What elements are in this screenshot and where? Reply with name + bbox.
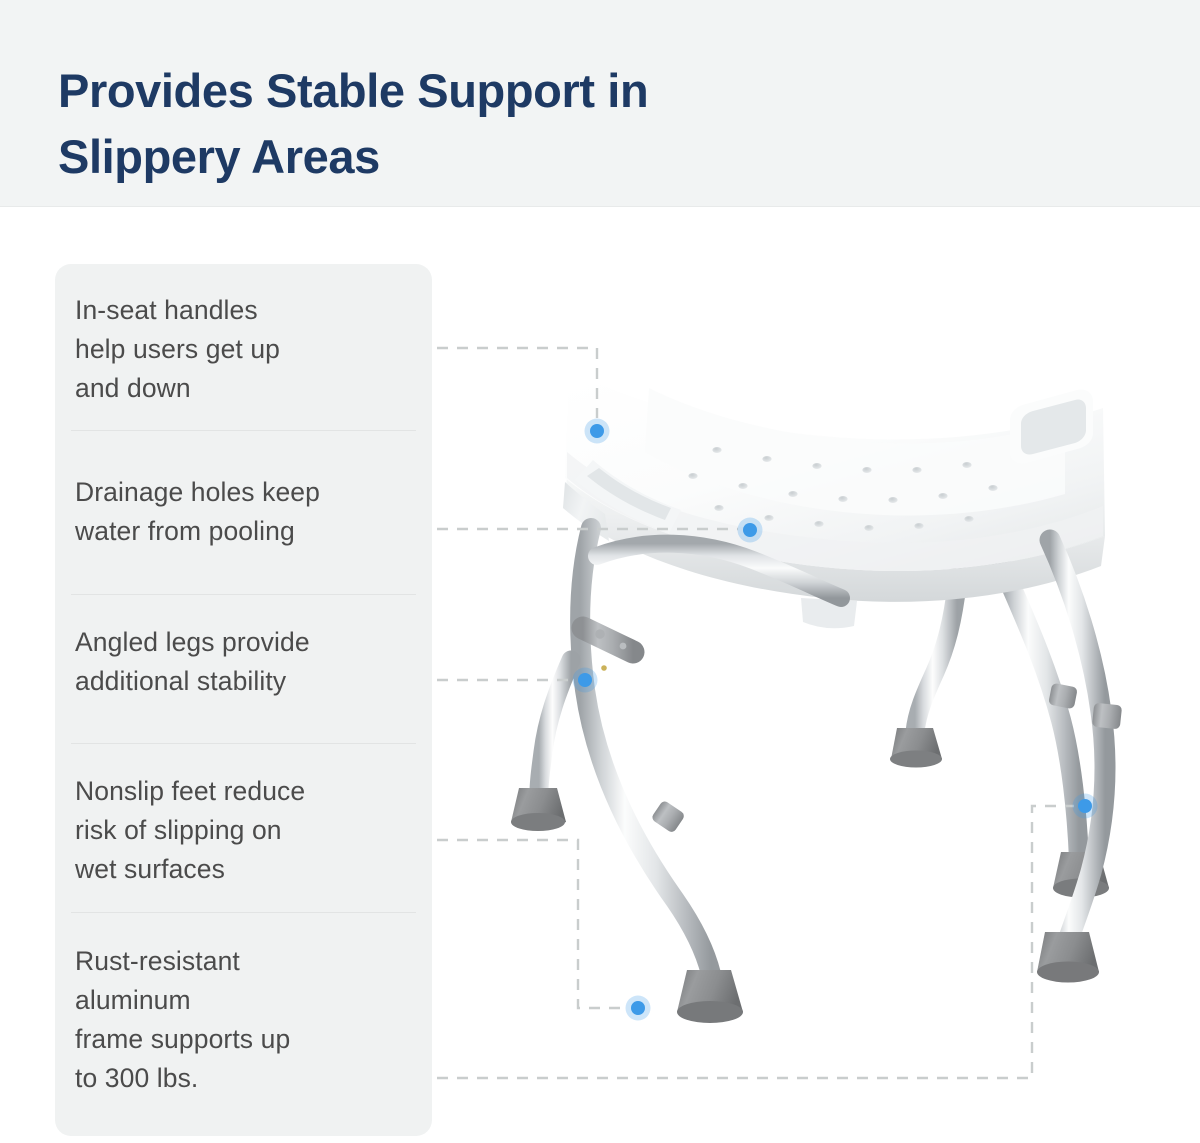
leg-front-inner-left [539, 660, 571, 792]
leg-front-left [580, 528, 711, 974]
page-title: Provides Stable Support in Slippery Area… [58, 58, 958, 190]
nonslip-foot-front-right [1037, 932, 1099, 983]
feature-divider [71, 912, 416, 913]
feature-item-nonslip-feet: Nonslip feet reduce risk of slipping on … [75, 772, 420, 889]
infographic-page: Provides Stable Support in Slippery Area… [0, 0, 1200, 1143]
product-image-shower-bench [505, 360, 1185, 1060]
feature-divider [71, 743, 416, 744]
leg-rear-left [915, 585, 957, 732]
feature-divider [71, 594, 416, 595]
nonslip-foot-front-left [677, 970, 743, 1023]
feature-item-in-seat-handles: In-seat handles help users get up and do… [75, 291, 420, 408]
feature-item-aluminum-frame: Rust-resistant aluminum frame supports u… [75, 942, 420, 1098]
nonslip-foot-front-inner-left [511, 788, 566, 831]
feature-divider [71, 430, 416, 431]
feature-item-angled-legs: Angled legs provide additional stability [75, 623, 420, 701]
feature-list-panel: In-seat handles help users get up and do… [55, 264, 432, 1136]
nonslip-foot-rear-left [890, 728, 942, 768]
feature-item-drainage-holes: Drainage holes keep water from pooling [75, 473, 420, 551]
